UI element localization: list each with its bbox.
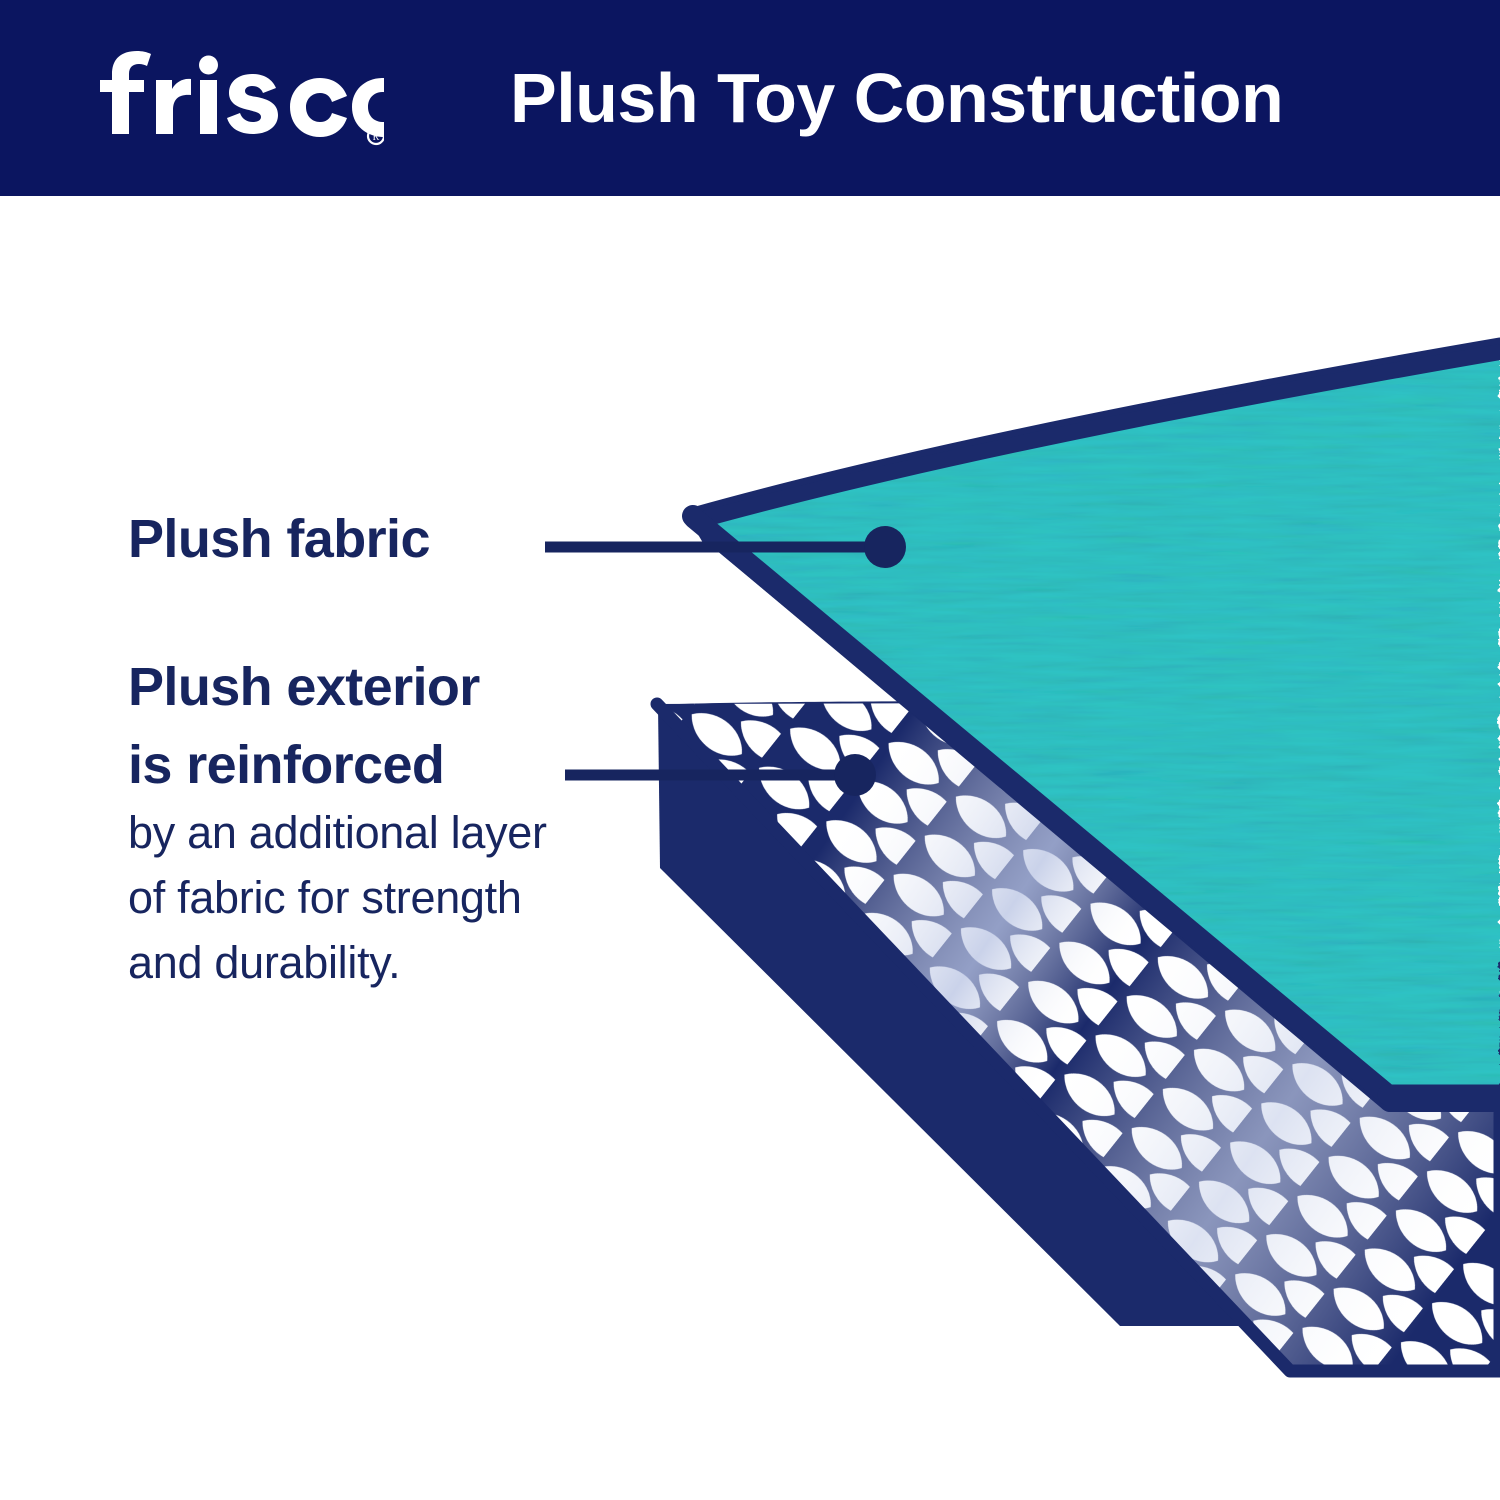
callout-plush-fabric: Plush fabric [128, 500, 430, 578]
svg-text:R: R [373, 132, 380, 143]
header-bar: R Plush Toy Construction [0, 0, 1500, 196]
callout-plush-exterior: Plush exterior is reinforced [128, 648, 480, 804]
callout-plush-exterior-heading: Plush exterior is reinforced [128, 648, 480, 804]
infographic-page: R Plush Toy Construction [0, 0, 1500, 1500]
callout-plush-exterior-body-wrap: by an additional layer of fabric for str… [128, 800, 547, 995]
callout-plush-fabric-heading: Plush fabric [128, 500, 430, 578]
page-title: Plush Toy Construction [510, 50, 1283, 146]
callout-plush-exterior-body: by an additional layer of fabric for str… [128, 800, 547, 995]
frisco-logo: R [84, 44, 384, 148]
